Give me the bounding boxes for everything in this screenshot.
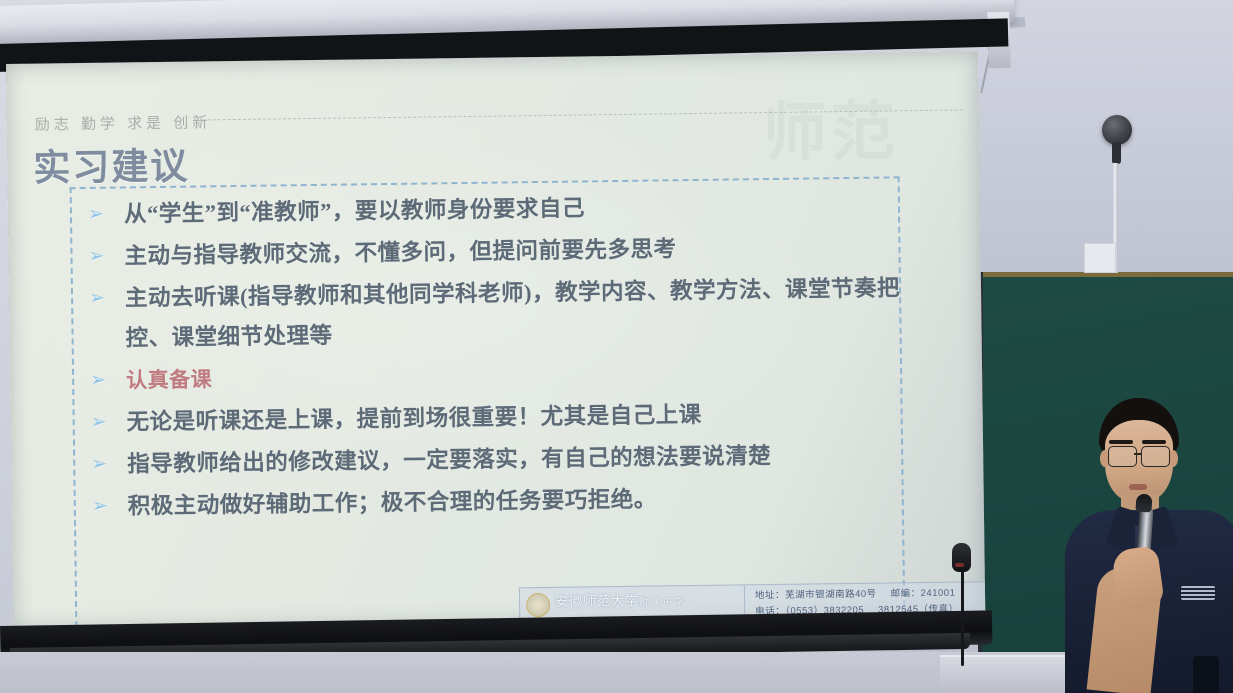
classroom-scene: 师范 励志 勤学 求是 创新 实习建议 ➢ 从“学生”到“准教师”，要以教师身份… (0, 0, 1233, 693)
school-name-cn: 安徽师范大学附属中学 (555, 592, 705, 610)
bullet-list: ➢ 从“学生”到“准教师”，要以教师身份要求自己 ➢ 主动与指导教师交流，不懂多… (82, 184, 906, 529)
list-item: ➢ 积极主动做好辅助工作；极不合理的任务要巧拒绝。 (86, 476, 906, 527)
person-mouth (1129, 484, 1147, 490)
postcode-label-and-value: 邮编：241001 (890, 585, 955, 600)
handheld-microphone-head (1135, 493, 1152, 512)
school-name-main: 安徽师范大学 (555, 593, 639, 609)
slide: 师范 励志 勤学 求是 创新 实习建议 ➢ 从“学生”到“准教师”，要以教师身份… (6, 51, 985, 630)
speaker-person (1063, 398, 1233, 693)
school-name-sub: 附属中学 (639, 596, 687, 607)
gooseneck-microphone-head (952, 543, 971, 572)
arrow-bullet-icon: ➢ (82, 194, 125, 235)
eyeglasses-bridge (1134, 453, 1142, 455)
arrow-bullet-icon: ➢ (85, 444, 128, 485)
person-eyebrow-right (1142, 440, 1166, 444)
eyeglasses-lens-right (1141, 446, 1170, 467)
slide-eyebrow-motto: 励志 勤学 求是 创新 (35, 111, 212, 134)
arrow-bullet-icon: ➢ (84, 360, 127, 401)
wall-speaker-mount (1112, 142, 1121, 164)
list-item-text: 主动去听课(指导教师和其他同学科老师)，教学内容、教学方法、课堂节奏把控、课堂细… (125, 268, 904, 358)
wall-speaker-icon (1102, 115, 1132, 145)
arrow-bullet-icon: ➢ (83, 278, 126, 319)
slide-watermark: 师范 (762, 80, 899, 174)
school-seal-icon (526, 593, 550, 617)
person-eyebrow-left (1109, 440, 1133, 444)
eyeglasses-lens-left (1108, 446, 1137, 467)
footer-address-line: 地址：芜湖市银湖南路40号 邮编：241001 (755, 584, 985, 601)
gooseneck-microphone-stem (961, 570, 964, 666)
list-item: ➢ 主动去听课(指导教师和其他同学科老师)，教学内容、教学方法、课堂节奏把控、课… (83, 268, 904, 359)
wall-junction-box (1084, 243, 1116, 273)
person-hand (1111, 545, 1165, 611)
page-title: 实习建议 (33, 136, 190, 192)
microphone-indicator-band (955, 563, 964, 567)
list-item-text: 积极主动做好辅助工作；极不合理的任务要巧拒绝。 (128, 476, 906, 526)
arrow-bullet-icon: ➢ (82, 236, 125, 277)
address-label-and-value: 地址：芜湖市银湖南路40号 (755, 586, 877, 602)
arrow-bullet-icon: ➢ (84, 402, 127, 443)
person-pocket-device (1193, 656, 1219, 693)
shirt-logo-icon (1181, 586, 1215, 600)
school-name-block: 安徽师范大学附属中学 THE HIGH SCHOOL AFFILIATED TO… (555, 592, 706, 615)
arrow-bullet-icon: ➢ (86, 486, 129, 527)
projection-screen: 师范 励志 勤学 求是 创新 实习建议 ➢ 从“学生”到“准教师”，要以教师身份… (6, 51, 985, 630)
